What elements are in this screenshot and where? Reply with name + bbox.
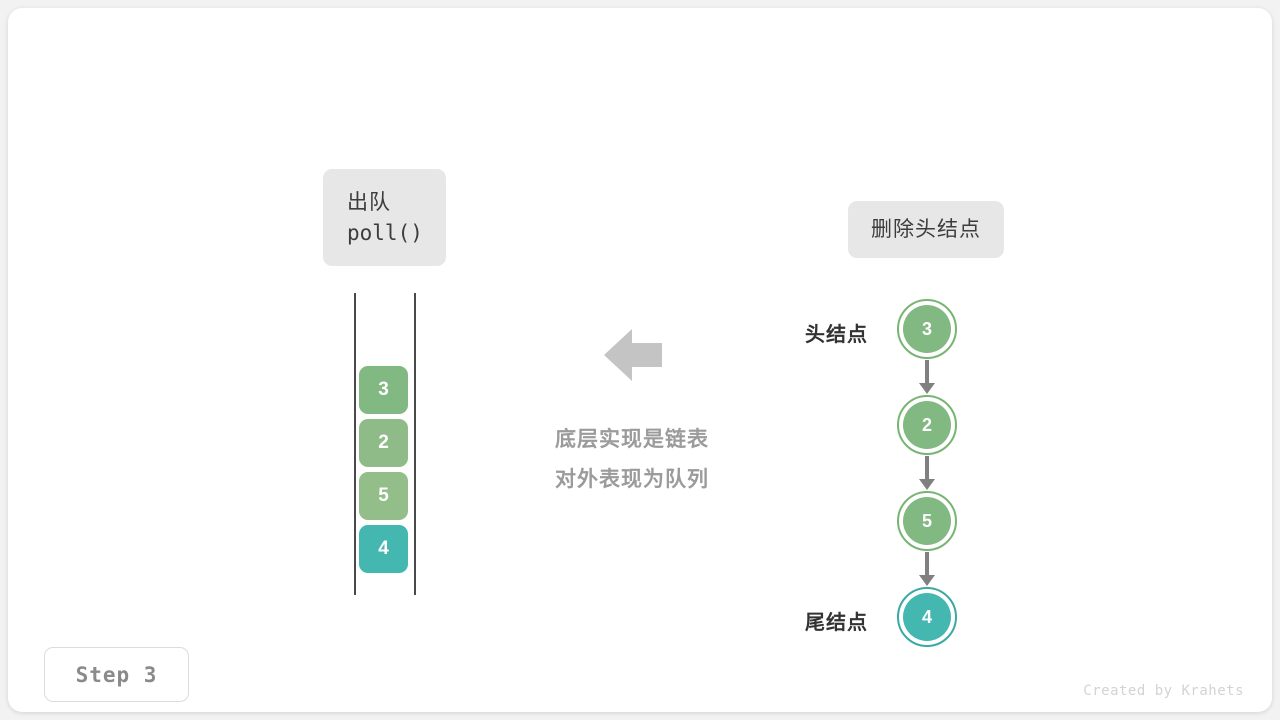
tail-node-label: 尾结点 [708, 606, 868, 635]
action-label: 删除头结点 [871, 215, 981, 245]
caption-line-2: 对外表现为队列 [508, 460, 756, 500]
list-node: 2 [897, 395, 957, 455]
list-node: 5 [897, 491, 957, 551]
diagram-card: 出队 poll() 删除头结点 3254 底层实现是链表 对外表现为队列 325… [8, 8, 1272, 712]
list-node-value: 3 [903, 305, 951, 353]
down-arrow-icon [917, 360, 937, 394]
left-block-arrow-icon [604, 327, 662, 383]
down-arrow-icon [917, 456, 937, 490]
queue-rail-right [414, 293, 416, 595]
step-label: Step 3 [76, 663, 158, 687]
queue-cell: 4 [359, 525, 408, 573]
caption-line-1: 底层实现是链表 [508, 420, 756, 460]
head-node-label: 头结点 [708, 318, 868, 347]
credit-text: Created by Krahets [1083, 683, 1244, 699]
down-arrow-icon [917, 552, 937, 586]
operation-title-code: poll() [347, 218, 423, 248]
list-node: 3 [897, 299, 957, 359]
queue-cell: 3 [359, 366, 408, 414]
action-label-box: 删除头结点 [848, 201, 1004, 258]
caption-text: 底层实现是链表 对外表现为队列 [508, 420, 756, 500]
queue-cell: 5 [359, 472, 408, 520]
list-node: 4 [897, 587, 957, 647]
step-badge: Step 3 [44, 647, 189, 702]
queue-rail-left [354, 293, 356, 595]
list-node-value: 2 [903, 401, 951, 449]
queue-cell: 2 [359, 419, 408, 467]
operation-title-cn: 出队 [347, 188, 391, 218]
list-node-value: 4 [903, 593, 951, 641]
operation-label-box: 出队 poll() [323, 169, 446, 266]
diagram-canvas: 出队 poll() 删除头结点 3254 底层实现是链表 对外表现为队列 325… [0, 0, 1280, 720]
list-node-value: 5 [903, 497, 951, 545]
